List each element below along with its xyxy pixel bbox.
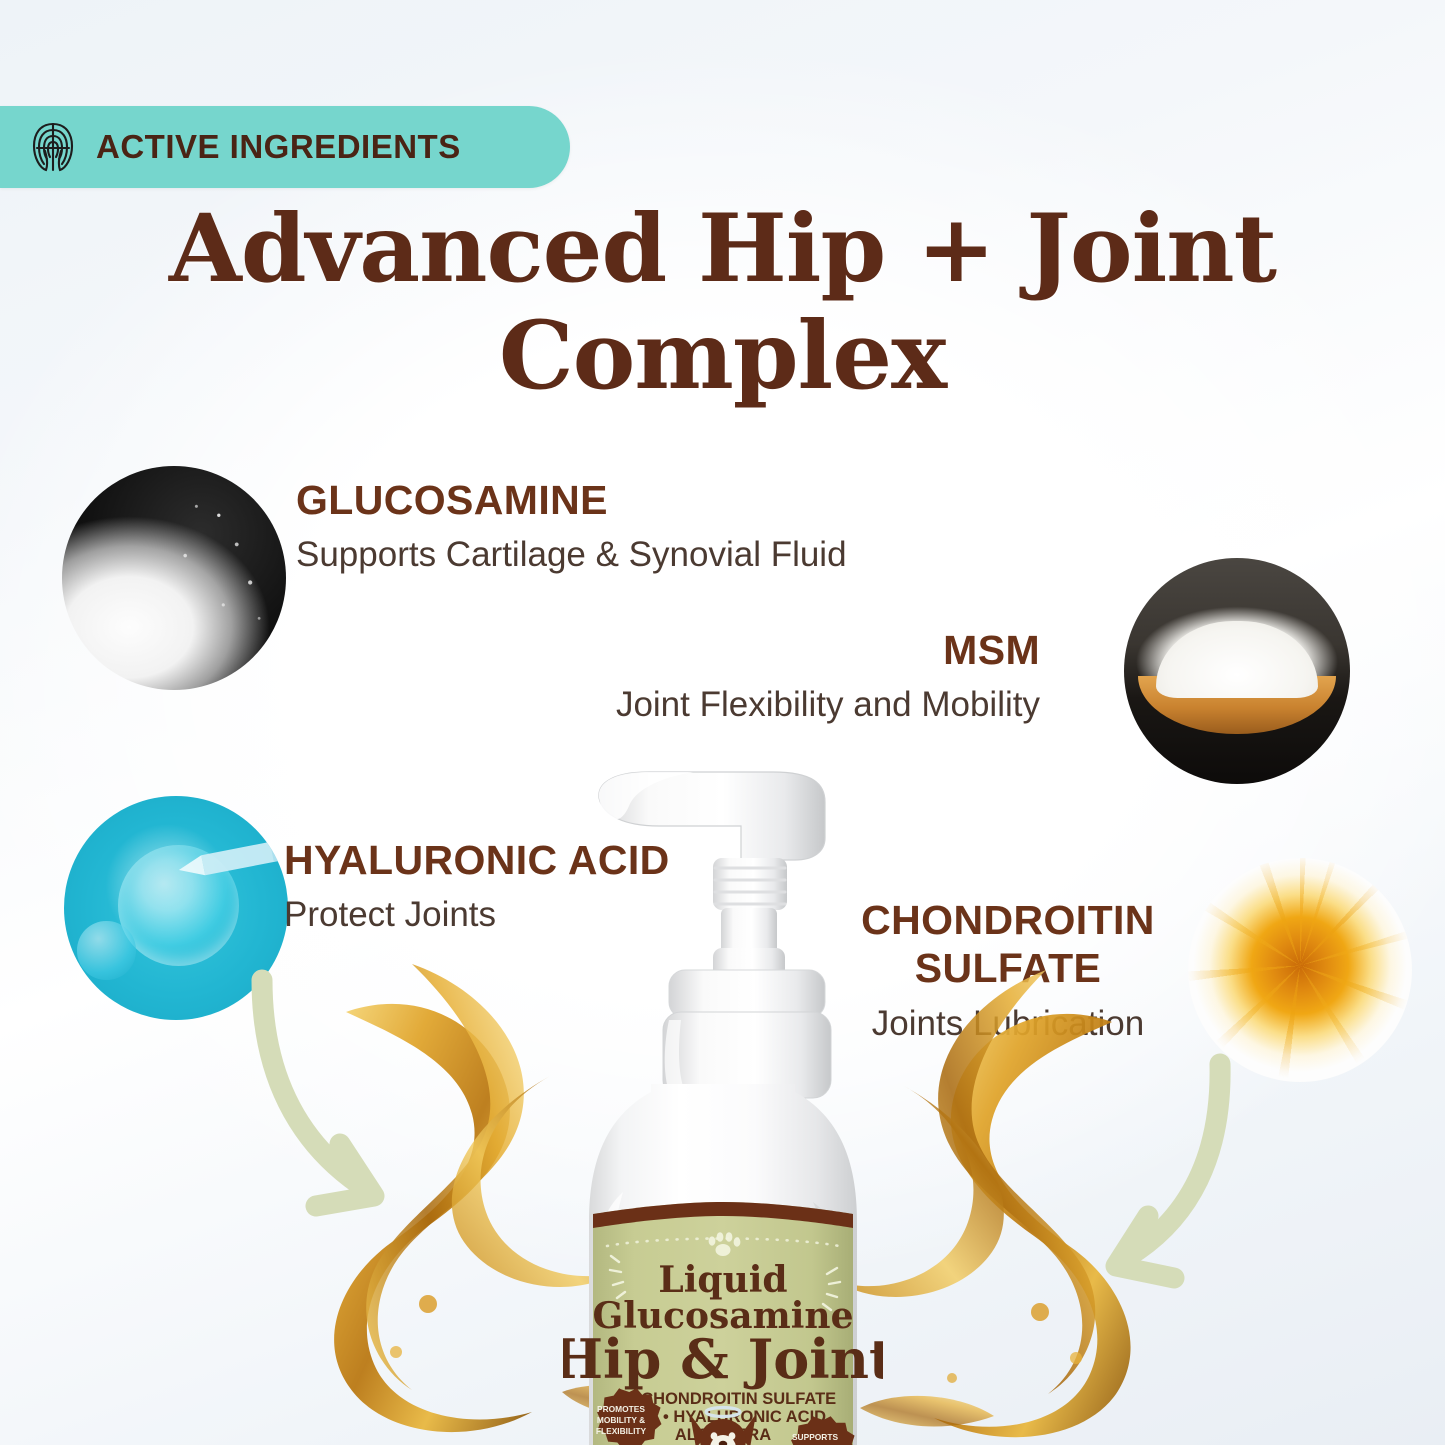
ingredient-description: Joint Flexibility and Mobility	[540, 682, 1040, 728]
msm-image	[1124, 558, 1350, 784]
product-bottle: Liquid Glucosamine Hip & Joint plus CHON…	[563, 762, 883, 1445]
ingredient-title-line-1: CHONDROITIN	[832, 896, 1184, 944]
bottle-collar	[663, 970, 831, 1098]
ingredient-description: Supports Cartilage & Synovial Fluid	[296, 532, 847, 578]
product-label: Liquid Glucosamine Hip & Joint plus CHON…	[563, 1202, 883, 1445]
dropper-icon	[156, 796, 288, 932]
ingredient-title: MSM	[540, 626, 1040, 674]
label-product-name: Hip & Joint	[563, 1327, 883, 1391]
page-title: Advanced Hip + Joint Complex	[0, 196, 1445, 410]
headline-line-2: Complex	[0, 303, 1445, 410]
badge-left-line-2: MOBILITY &	[597, 1415, 645, 1425]
ingredient-glucosamine: GLUCOSAMINE Supports Cartilage & Synovia…	[296, 476, 847, 578]
badge-right-line-1: SUPPORTS	[792, 1432, 838, 1442]
badge-left-line-3: FLEXIBILITY	[596, 1426, 647, 1436]
headline-line-1: Advanced Hip + Joint	[0, 196, 1445, 303]
fingerprint-leaf-icon	[30, 121, 76, 173]
ingredient-msm: MSM Joint Flexibility and Mobility	[540, 626, 1040, 728]
ingredient-title: GLUCOSAMINE	[296, 476, 847, 524]
pump-dispenser	[599, 772, 825, 980]
badge-left-line-1: PROMOTES	[597, 1404, 645, 1414]
active-ingredients-badge: ACTIVE INGREDIENTS	[0, 106, 570, 188]
badge-label: ACTIVE INGREDIENTS	[96, 128, 461, 166]
chondroitin-sulfate-image	[1188, 858, 1412, 1082]
infographic-canvas: ACTIVE INGREDIENTS Advanced Hip + Joint …	[0, 0, 1445, 1445]
glucosamine-image	[62, 466, 286, 690]
pump-neck	[713, 858, 787, 910]
